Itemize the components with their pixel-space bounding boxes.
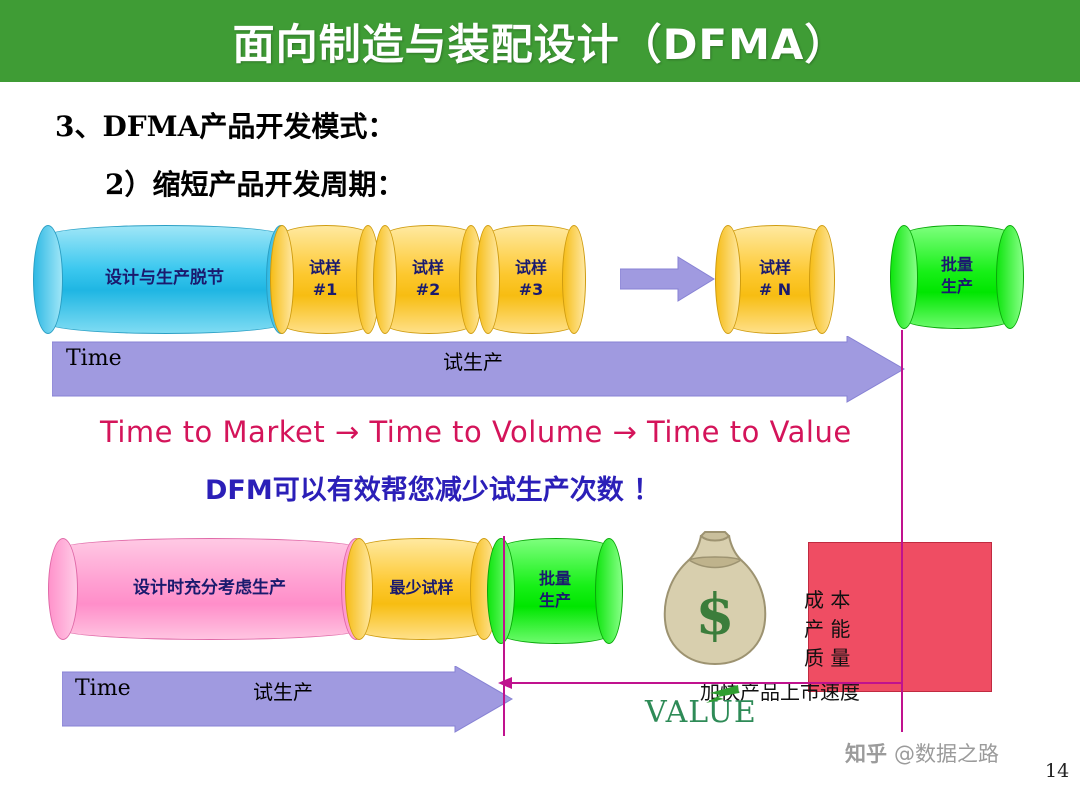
title-bar: 面向制造与装配设计（DFMA）: [0, 0, 1080, 82]
top-trial-1-line2: #1: [313, 279, 338, 301]
value-text: VALUE: [645, 695, 757, 730]
slide-root: 面向制造与装配设计（DFMA） 3、DFMA产品开发模式： 2）缩短产品开发周期…: [0, 0, 1080, 810]
dfm-benefit-line: DFM可以有效帮您减少试生产次数 ！: [205, 468, 660, 507]
top-trial-production-label: 试生产: [443, 346, 503, 375]
heading-level-2: 2）缩短产品开发周期：: [105, 163, 404, 203]
top-stage-design-disconnected: 设计与生产脱节: [47, 225, 282, 332]
reference-line-left: [503, 536, 505, 736]
purple-arrow-icon: [620, 255, 715, 303]
bottom-trial-production-label: 试生产: [253, 676, 313, 705]
top-trial-n-line2: # N: [759, 279, 791, 301]
money-bag-symbol: $: [696, 582, 735, 648]
bottom-min-trial: 最少试样: [358, 538, 485, 638]
bottom-mass-production-line2: 生产: [539, 590, 571, 612]
benefit-words: 成 本 产 能 质 量: [804, 586, 896, 673]
top-trial-2-line1: 试样: [412, 257, 444, 279]
top-trial-1-line1: 试样: [309, 257, 341, 279]
top-trial-3-line1: 试样: [515, 257, 547, 279]
top-time-label: Time: [66, 346, 122, 371]
top-mass-production-line1: 批量: [941, 254, 973, 276]
page-title: 面向制造与装配设计（DFMA）: [233, 11, 848, 72]
top-trial-3: 试样 #3: [487, 225, 575, 332]
top-trial-n: 试样 # N: [727, 225, 823, 332]
zhihu-logo-icon: 知乎: [845, 738, 887, 768]
bottom-mass-production: 批量 生产: [500, 538, 610, 642]
time-to-market-line: Time to Market → Time to Volume → Time t…: [100, 415, 852, 449]
top-mass-production: 批量 生产: [903, 225, 1011, 327]
benefit-word-cost: 成 本: [804, 586, 896, 615]
top-stage-design-label: 设计与生产脱节: [105, 267, 224, 290]
reference-line-right: [901, 330, 903, 732]
top-trial-2: 试样 #2: [384, 225, 472, 332]
top-mass-production-line2: 生产: [941, 276, 973, 298]
watermark-text: @数据之路: [894, 738, 999, 768]
watermark: 知乎 @数据之路: [845, 738, 999, 768]
top-trial-n-line1: 试样: [759, 257, 791, 279]
top-trial-2-line2: #2: [416, 279, 441, 301]
heading-level-1: 3、DFMA产品开发模式：: [55, 105, 395, 145]
top-trial-1: 试样 #1: [281, 225, 369, 332]
benefit-word-capacity: 产 能: [804, 615, 896, 644]
bottom-time-label: Time: [75, 676, 131, 701]
bottom-stage-design-with-production: 设计时充分考虑生产: [62, 538, 357, 638]
bottom-stage-design-label: 设计时充分考虑生产: [133, 577, 286, 600]
top-trial-3-line2: #3: [519, 279, 544, 301]
bottom-min-trial-label: 最少试样: [389, 577, 453, 599]
money-bag-icon: $: [655, 530, 775, 670]
comparison-arrow: [498, 674, 903, 692]
benefit-word-quality: 质 量: [804, 644, 896, 673]
page-number: 14: [1045, 760, 1069, 782]
bottom-mass-production-line1: 批量: [539, 568, 571, 590]
